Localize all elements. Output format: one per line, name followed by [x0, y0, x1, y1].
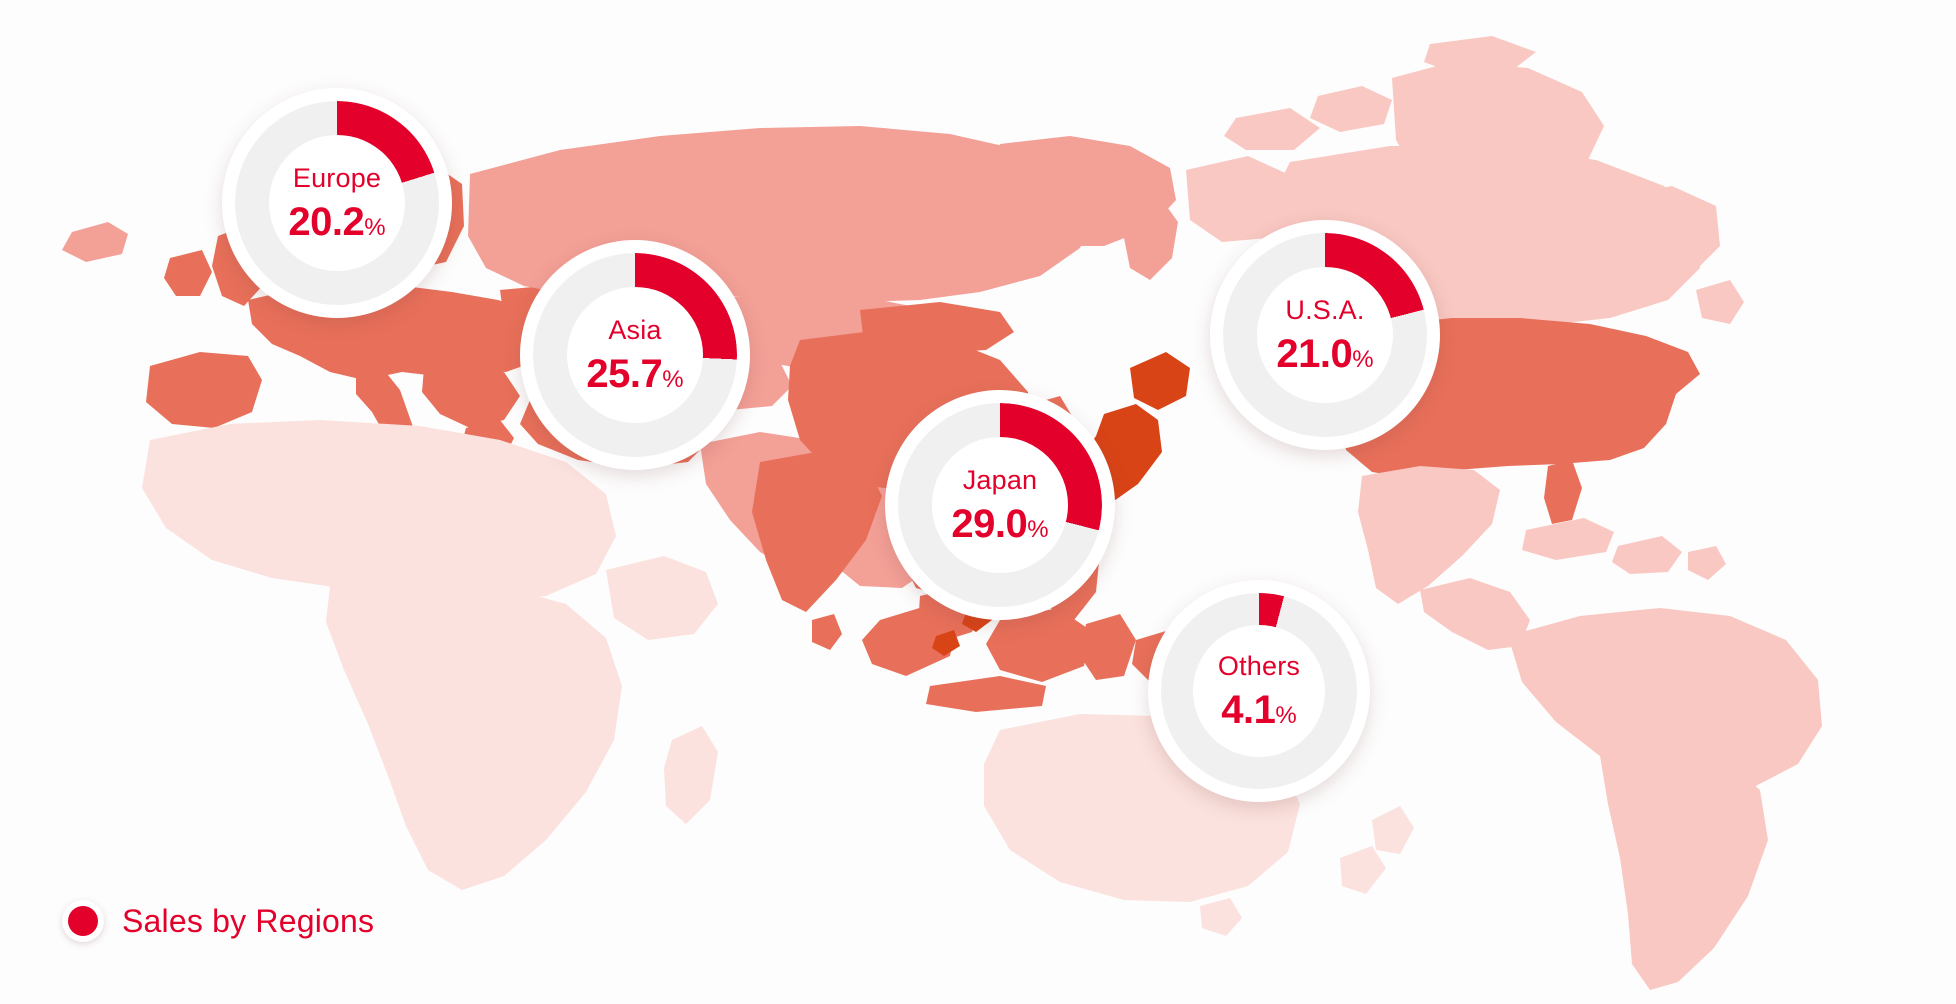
donut-asia-center: Asia 25.7 %	[567, 287, 703, 423]
donut-japan[interactable]: Japan 29.0 %	[885, 390, 1115, 620]
donut-europe-center: Europe 20.2 %	[269, 135, 405, 271]
map-region-canada-ne	[1610, 186, 1720, 278]
map-region-sri-lanka	[812, 614, 842, 650]
map-region-usa-florida	[1544, 460, 1582, 524]
map-region-arctic-islands-a	[1310, 86, 1392, 132]
donut-asia-value-number: 25.7	[586, 354, 662, 394]
map-region-hispaniola	[1612, 536, 1682, 574]
map-region-madagascar	[664, 726, 718, 824]
donut-usa-label: U.S.A.	[1285, 297, 1364, 324]
map-region-horn-of-africa	[606, 556, 718, 640]
map-region-lesser-antilles	[1688, 546, 1726, 580]
map-region-iceland	[62, 222, 128, 262]
donut-japan-value-number: 29.0	[951, 504, 1027, 544]
map-region-india	[752, 452, 882, 612]
map-region-mongolia	[860, 302, 1014, 354]
infographic-canvas: Europe 20.2 % Asia 25.7 % Japan 29.0	[0, 0, 1956, 1004]
donut-asia-value: 25.7 %	[586, 354, 683, 394]
donut-others[interactable]: Others 4.1 %	[1148, 580, 1370, 802]
map-region-kamchatka	[1124, 200, 1178, 280]
donut-japan-label: Japan	[963, 467, 1038, 494]
map-region-japan-hokkaido	[1130, 352, 1190, 410]
map-region-south-america-s	[1600, 746, 1768, 990]
donut-europe-value-percent: %	[364, 216, 385, 240]
map-region-north-africa	[142, 420, 616, 602]
legend: Sales by Regions	[62, 900, 374, 942]
donut-usa-value-number: 21.0	[1276, 334, 1352, 374]
donut-asia-value-percent: %	[662, 368, 683, 392]
donut-others-value-percent: %	[1275, 704, 1296, 728]
donut-europe-label: Europe	[293, 165, 381, 192]
donut-usa-center: U.S.A. 21.0 %	[1257, 267, 1393, 403]
donut-others-label: Others	[1218, 653, 1300, 680]
map-region-new-zealand-s	[1340, 846, 1386, 894]
donut-usa[interactable]: U.S.A. 21.0 %	[1210, 220, 1440, 450]
map-region-java	[926, 676, 1046, 712]
donut-japan-value: 29.0 %	[951, 504, 1048, 544]
legend-dot-icon	[68, 906, 98, 936]
map-region-sub-saharan-africa	[326, 578, 622, 890]
donut-europe[interactable]: Europe 20.2 %	[222, 88, 452, 318]
map-region-tasmania	[1200, 898, 1242, 936]
donut-europe-value-number: 20.2	[288, 202, 364, 242]
donut-japan-value-percent: %	[1027, 518, 1048, 542]
map-region-new-zealand-n	[1372, 806, 1414, 854]
donut-asia[interactable]: Asia 25.7 %	[520, 240, 750, 470]
legend-label: Sales by Regions	[122, 903, 374, 940]
map-region-ireland	[164, 250, 212, 296]
donut-usa-value: 21.0 %	[1276, 334, 1373, 374]
donut-europe-value: 20.2 %	[288, 202, 385, 242]
donut-others-value: 4.1 %	[1221, 690, 1296, 730]
map-region-sulawesi	[1080, 614, 1136, 680]
donut-usa-value-percent: %	[1352, 348, 1373, 372]
legend-marker-wrap	[62, 900, 104, 942]
map-region-iberia	[146, 352, 262, 428]
donut-others-value-number: 4.1	[1221, 690, 1275, 730]
donut-japan-center: Japan 29.0 %	[932, 437, 1068, 573]
map-region-arctic-islands-b	[1224, 108, 1320, 150]
donut-asia-label: Asia	[608, 317, 661, 344]
map-region-newfoundland	[1696, 280, 1744, 324]
donut-others-center: Others 4.1 %	[1193, 625, 1325, 757]
map-region-cuba	[1522, 518, 1614, 560]
